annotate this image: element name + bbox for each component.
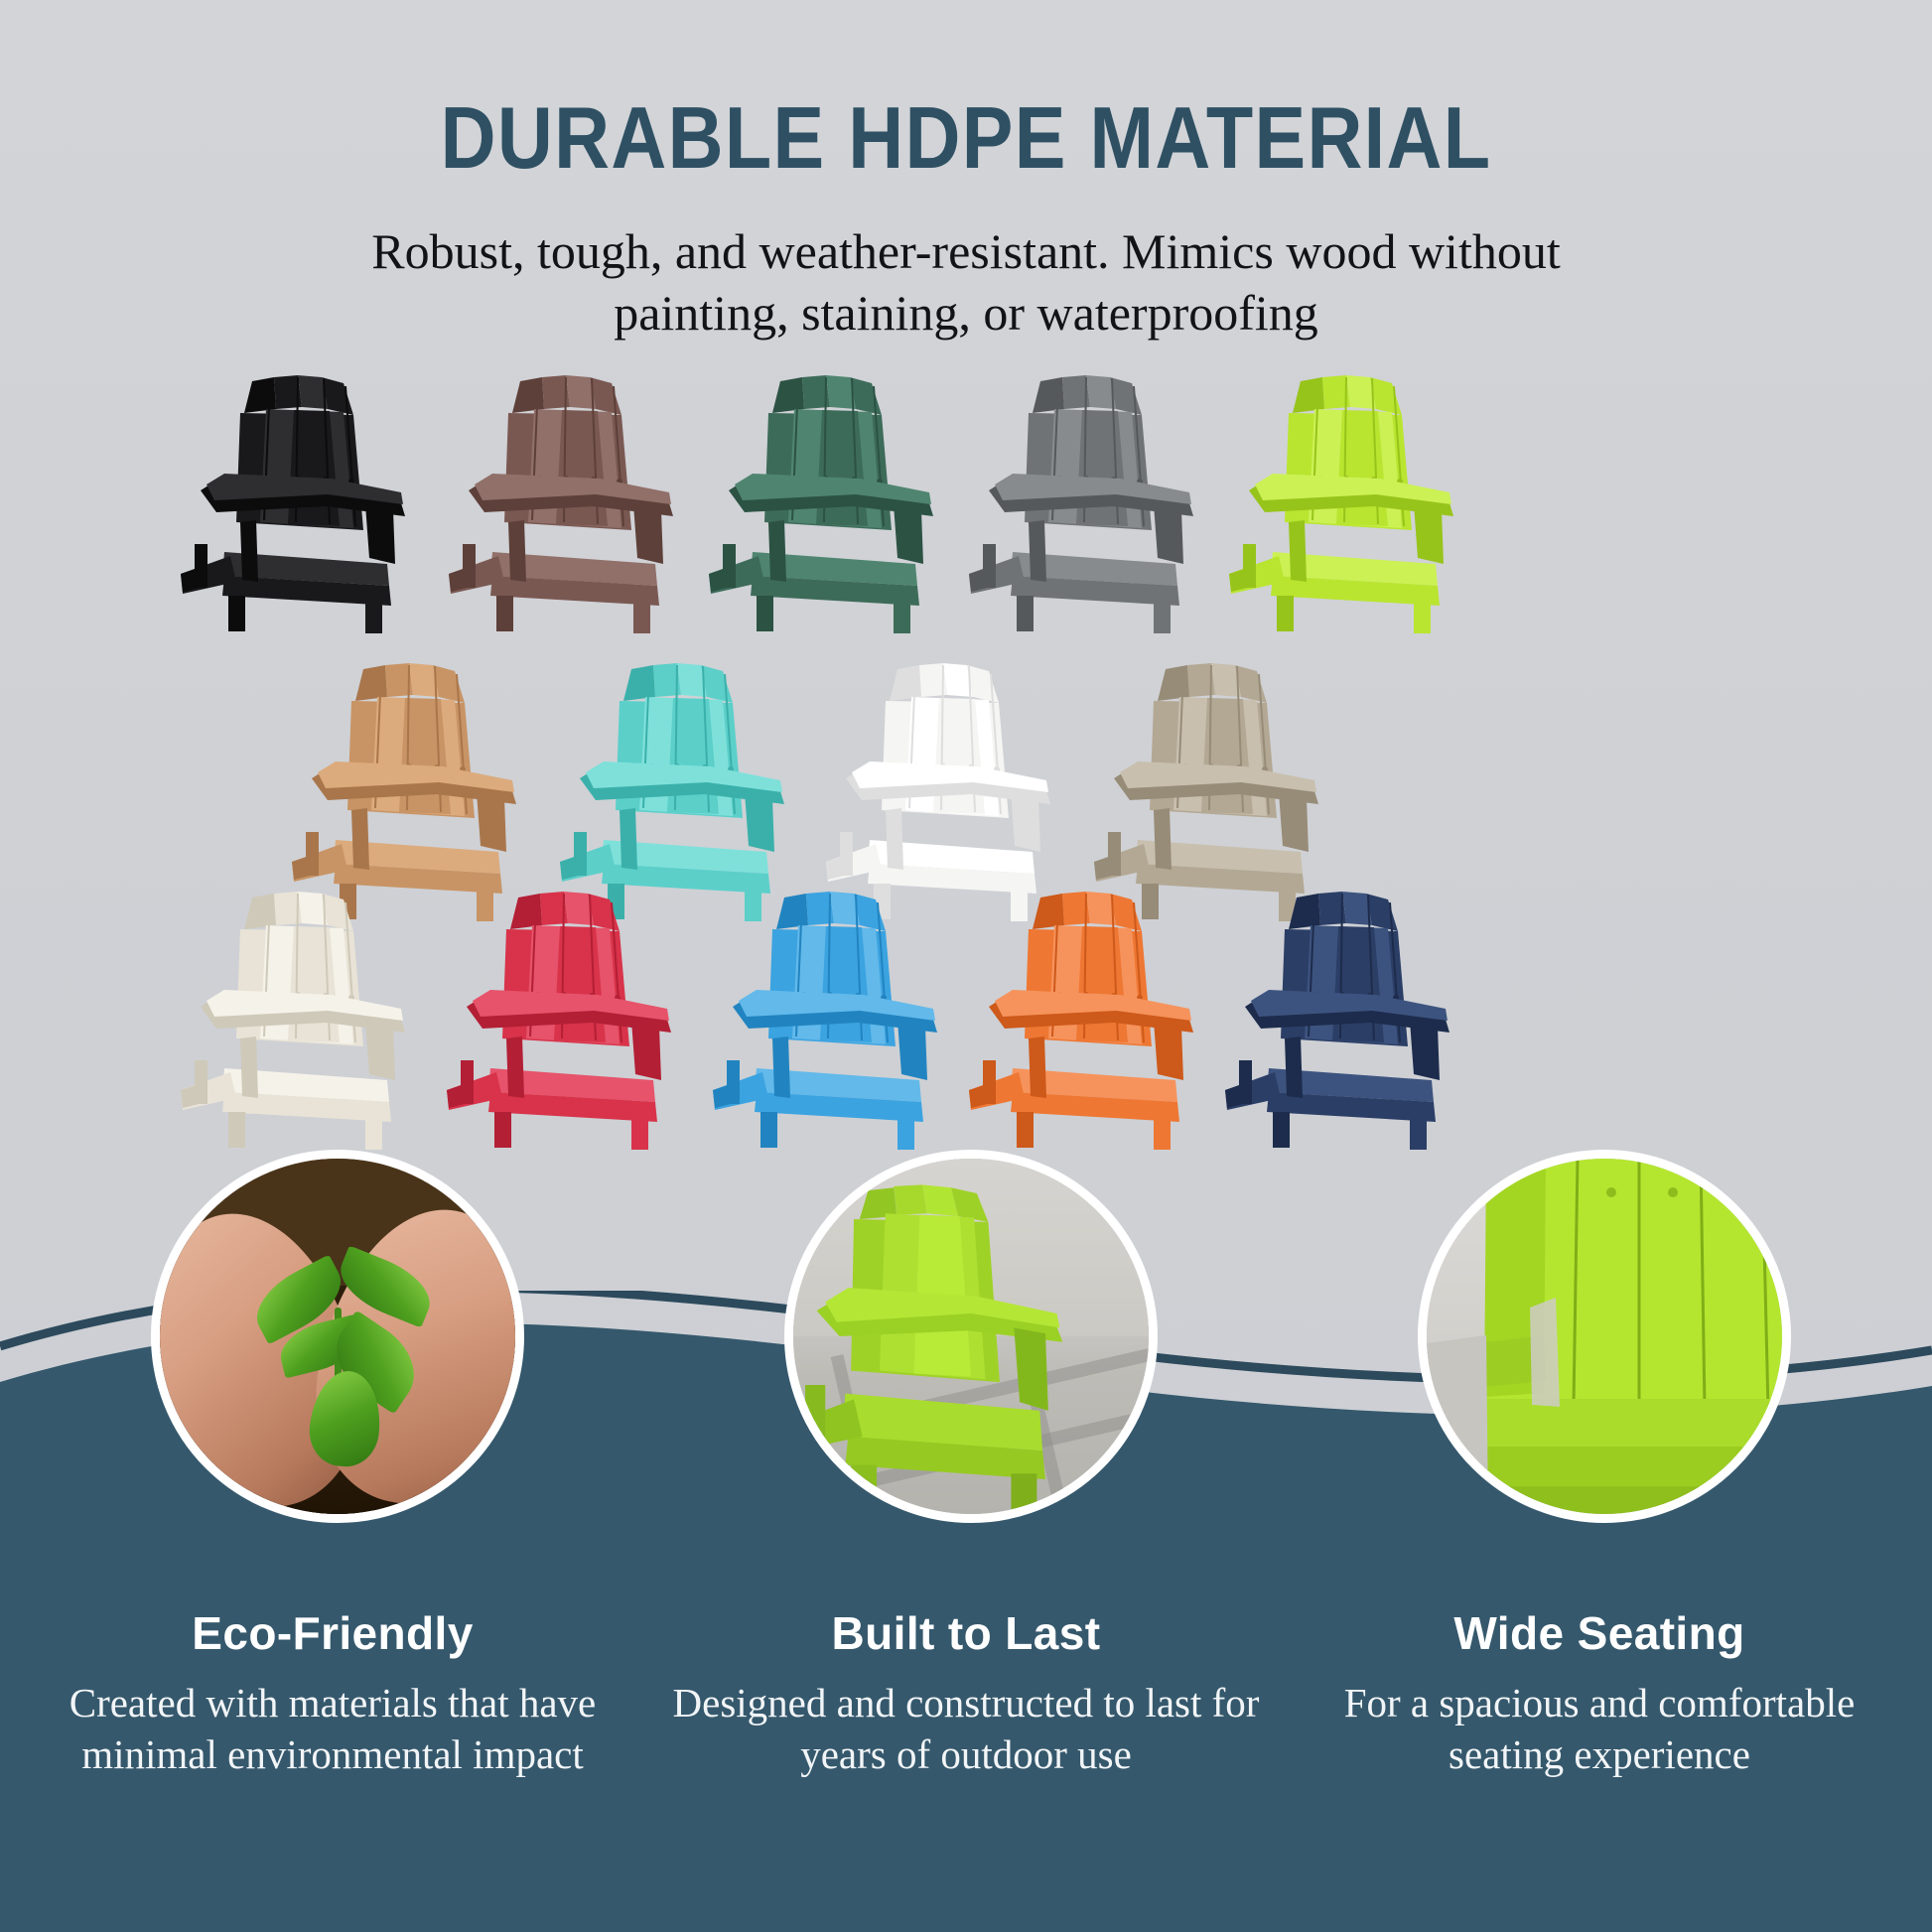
feature-block-wide-seating: Wide Seating For a spacious and comforta…	[1302, 1606, 1897, 1780]
feature-title: Wide Seating	[1302, 1606, 1897, 1660]
adirondack-chair-khaki	[1062, 657, 1380, 923]
feature-photo-built-to-last	[784, 1150, 1158, 1523]
adirondack-chair-navy	[1193, 886, 1511, 1152]
feature-title: Eco-Friendly	[35, 1606, 630, 1660]
chair-photo-vector	[793, 1159, 1149, 1514]
chair-swatch-lime[interactable]	[1197, 369, 1515, 635]
feature-block-eco-friendly: Eco-Friendly Created with materials that…	[35, 1606, 630, 1780]
feature-description: Designed and constructed to last for yea…	[668, 1678, 1264, 1780]
feature-photo-wide-seating	[1418, 1150, 1791, 1523]
chair-swatch-khaki[interactable]	[1062, 657, 1380, 923]
photo-lime-chair-patio	[793, 1159, 1149, 1514]
chair-swatch-navy[interactable]	[1193, 886, 1511, 1152]
feature-block-built-to-last: Built to Last Designed and constructed t…	[668, 1606, 1264, 1780]
chair-closeup-vector	[1427, 1159, 1782, 1514]
feature-title: Built to Last	[668, 1606, 1264, 1660]
page-title: DURABLE HDPE MATERIAL	[116, 87, 1816, 189]
infographic-root: DURABLE HDPE MATERIAL Robust, tough, and…	[0, 0, 1932, 1932]
photo-hands-seedling	[160, 1159, 515, 1514]
adirondack-chair-lime	[1197, 369, 1515, 635]
chair-color-grid	[0, 369, 1932, 1223]
feature-photo-eco-friendly	[151, 1150, 524, 1523]
page-subtitle: Robust, tough, and weather-resistant. Mi…	[301, 220, 1631, 344]
feature-description: Created with materials that have minimal…	[35, 1678, 630, 1780]
feature-description: For a spacious and comfortable seating e…	[1302, 1678, 1897, 1780]
photo-lime-chair-closeup	[1427, 1159, 1782, 1514]
